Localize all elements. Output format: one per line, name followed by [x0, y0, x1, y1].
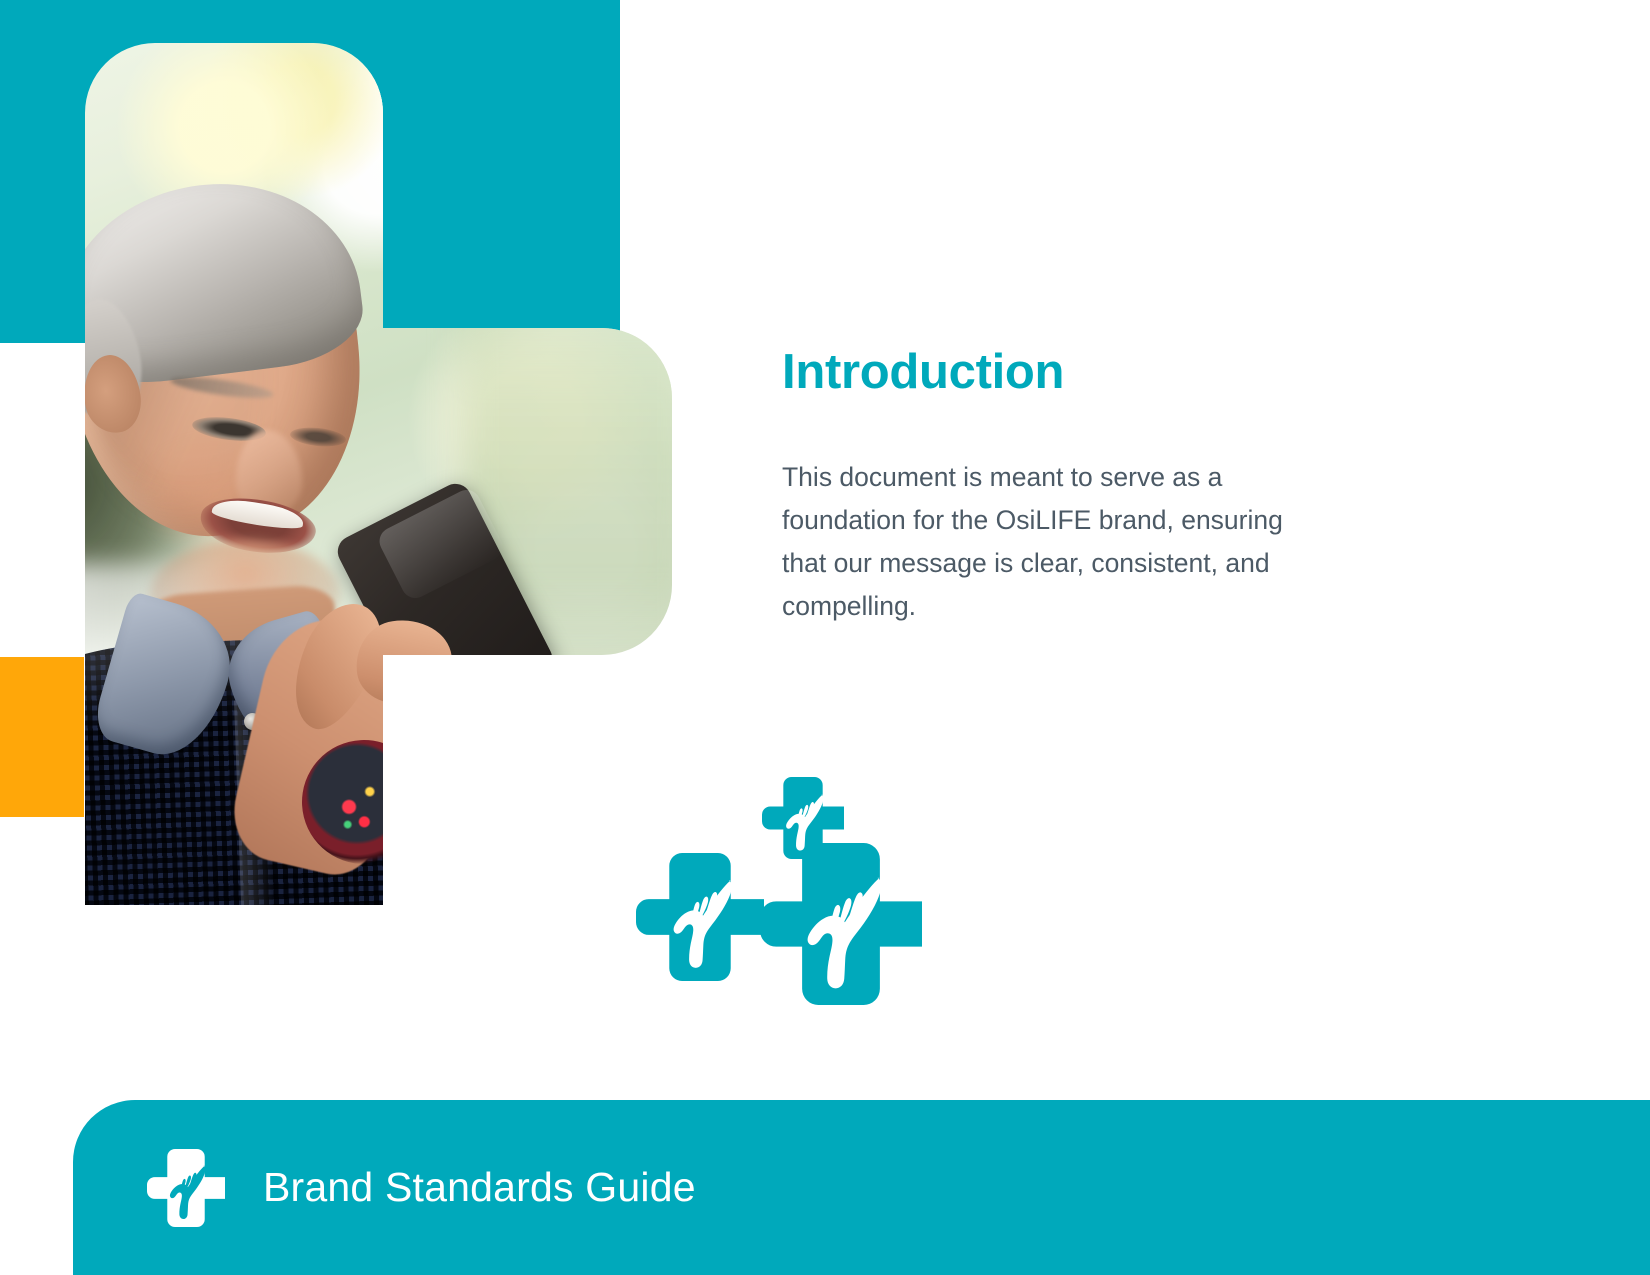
logo-mark-large: [760, 843, 922, 1005]
footer-bar: Brand Standards Guide: [73, 1100, 1650, 1275]
brand-guide-page: Introduction This document is meant to s…: [0, 0, 1650, 1275]
logo-mark-small: [762, 777, 844, 859]
photo-background-foliage: [462, 182, 693, 783]
hero-photo-cross: [0, 0, 680, 910]
intro-content: Introduction This document is meant to s…: [782, 346, 1342, 628]
footer-title: Brand Standards Guide: [263, 1164, 696, 1211]
intro-paragraph: This document is meant to serve as a fou…: [782, 456, 1330, 628]
osilife-cross-hand-logo-icon: [147, 1142, 225, 1234]
hero-photo-clip: [0, 0, 680, 910]
page-title: Introduction: [782, 346, 1342, 400]
orange-accent-block: [0, 657, 84, 817]
hero-photo-image: [0, 0, 680, 910]
